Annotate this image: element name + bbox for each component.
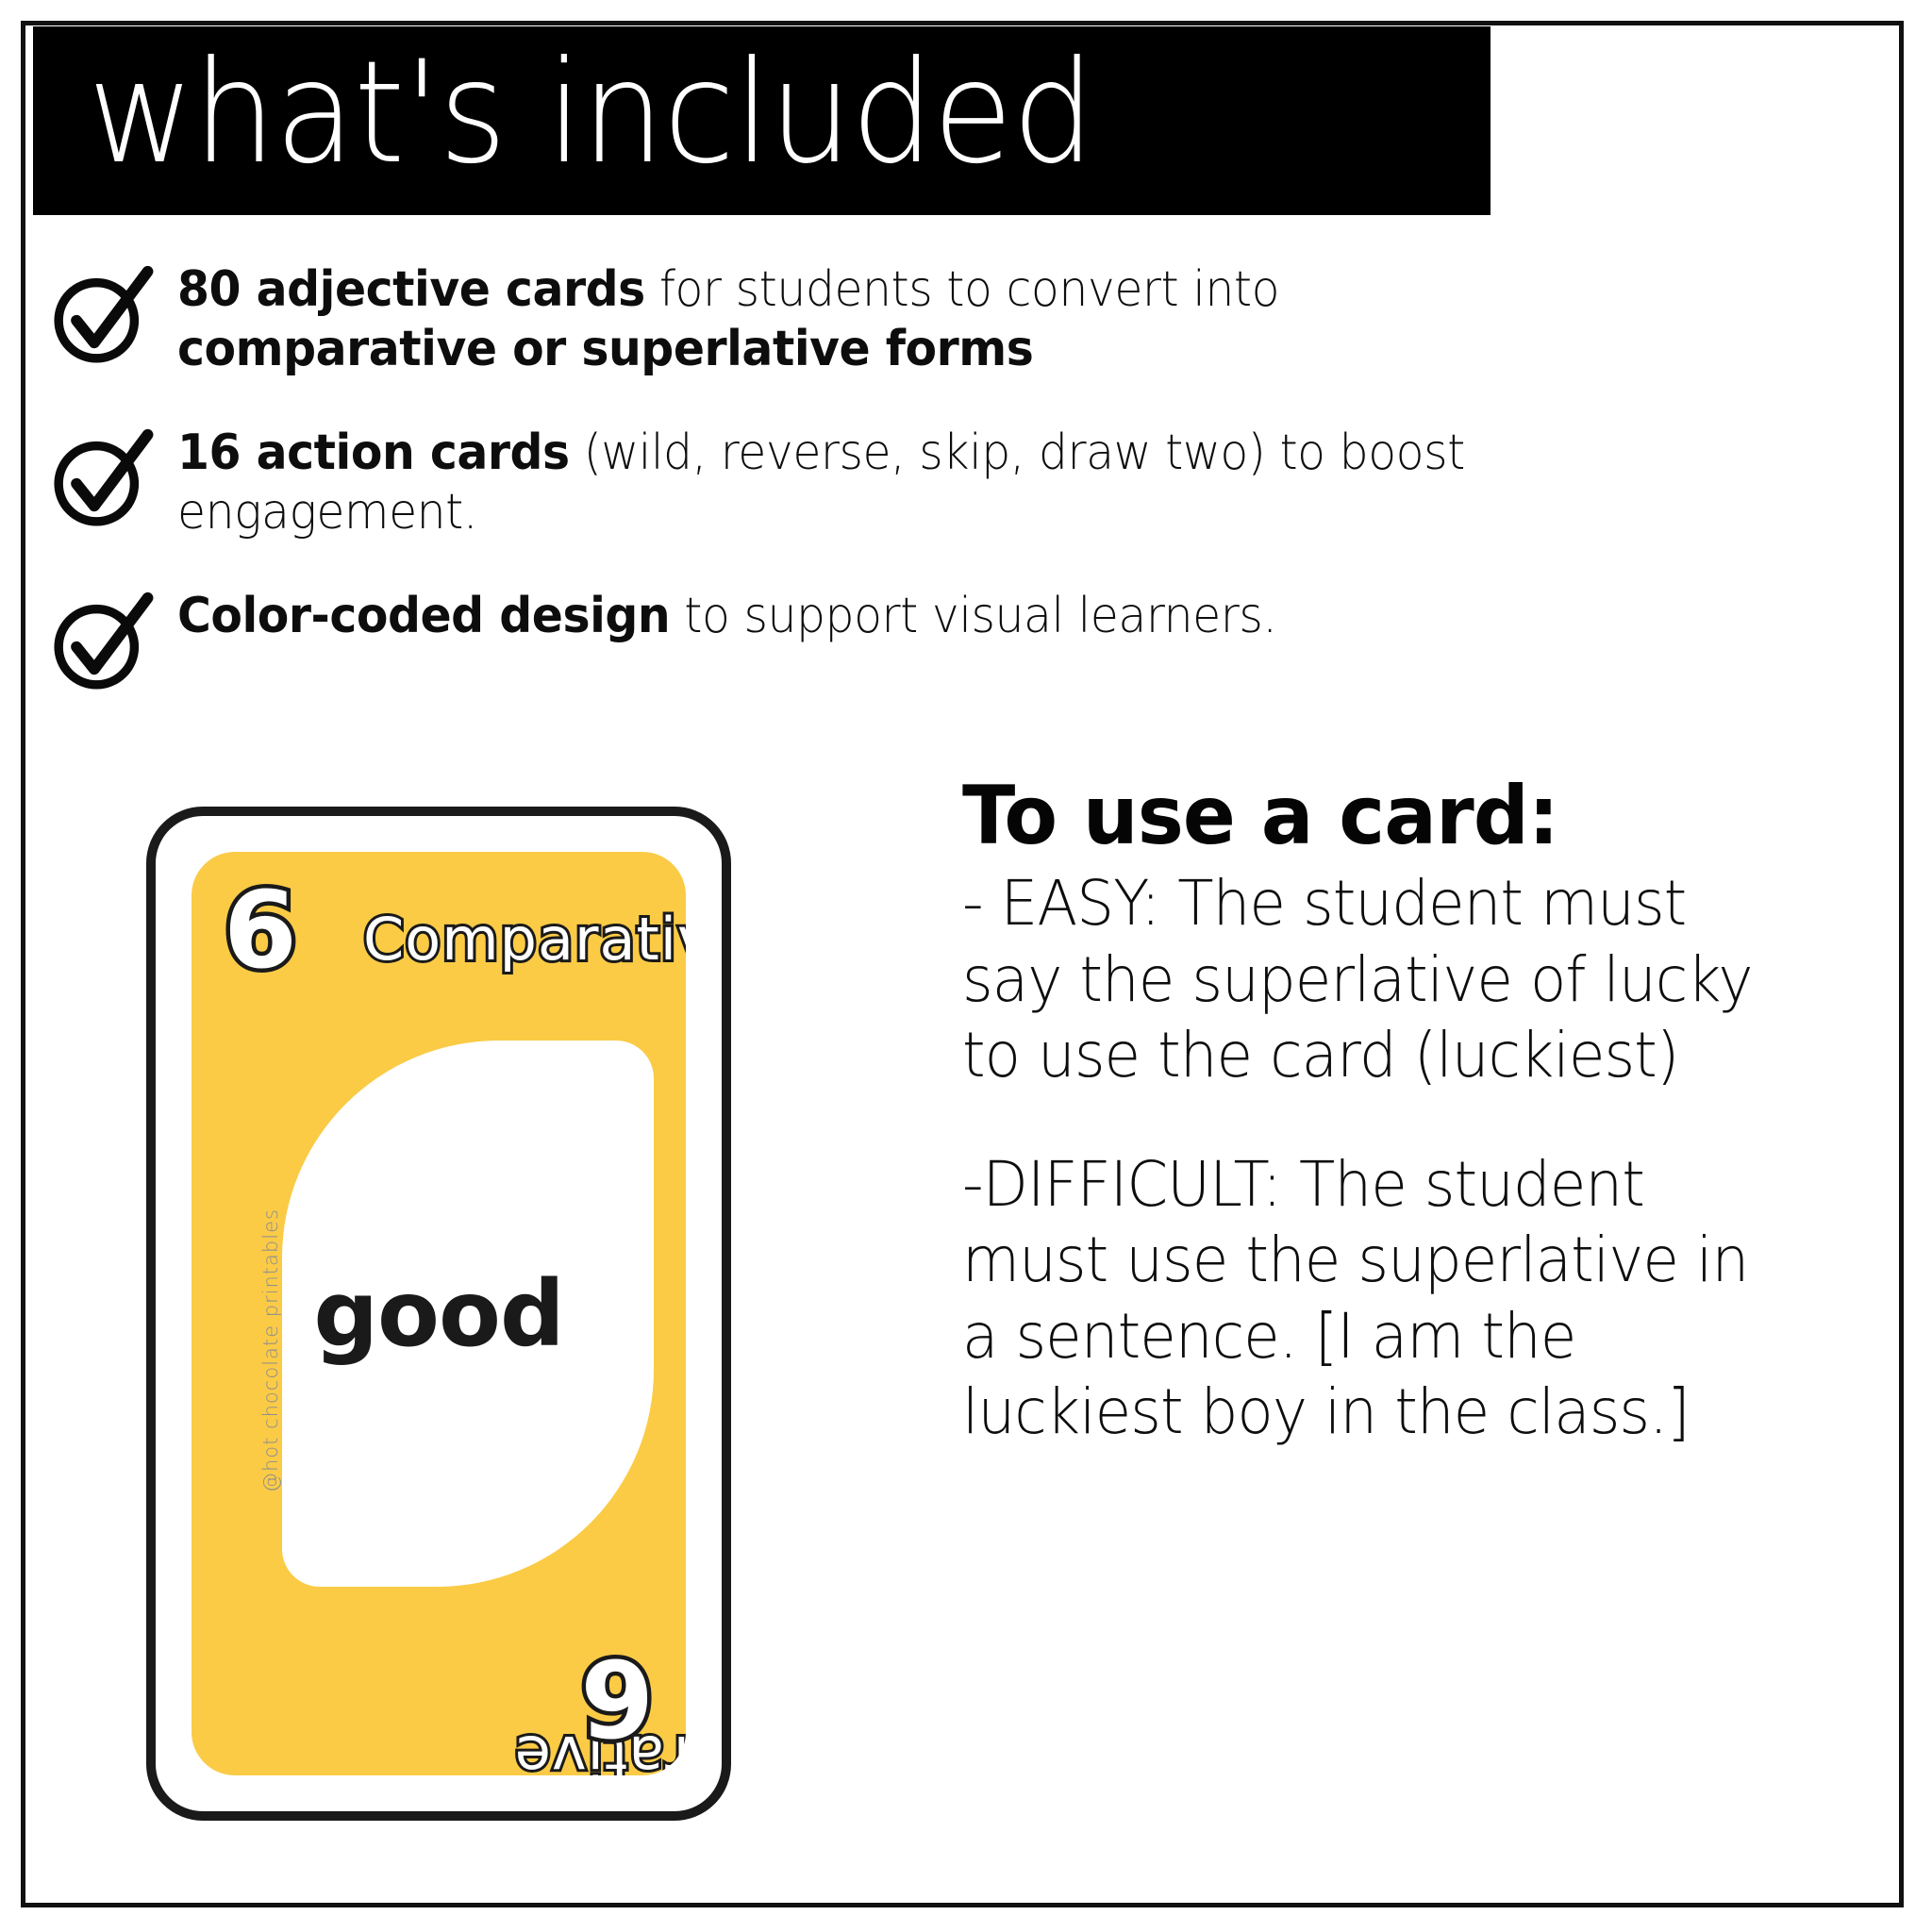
list-item-bold-lead: 80 adjective cards [177,261,645,318]
check-circle-icon [45,424,177,537]
card-number-bottom-right: 6 [580,1643,654,1749]
page-title: what's included [88,46,1093,181]
list-item-bold-lead: 16 action cards [177,425,570,481]
list-item-text: 16 action cards (wild, reverse, skip, dr… [177,420,1578,543]
list-item-text: Color-coded design to support visual lea… [177,583,1578,646]
list-item: 80 adjective cards for students to conve… [45,257,1668,380]
card-number-top-left: 6 [224,878,297,984]
page-root: what's included 80 adjective cards for s… [0,0,1932,1932]
card-label-top: Comparative [363,905,686,974]
list-item-bold-tail: comparative or superlative forms [177,321,1033,377]
usage-paragraph-easy: - EASY: The student must say the superla… [962,866,1796,1094]
list-item: 16 action cards (wild, reverse, skip, dr… [45,420,1668,543]
example-card: 6 Comparative good Comparative 6 @hot ch… [146,807,731,1821]
watermark-text: @hot chocolate printables [259,1208,282,1492]
header-banner: what's included [33,26,1491,215]
usage-section: To use a card: - EASY: The student must … [962,774,1840,1504]
list-item-bold-lead: Color-coded design [177,588,670,644]
list-item: Color-coded design to support visual lea… [45,583,1668,700]
usage-title: To use a card: [962,774,1805,858]
list-item-text: 80 adjective cards for students to conve… [177,257,1578,380]
card-face: 6 Comparative good Comparative 6 @hot ch… [192,852,686,1775]
check-circle-icon [45,587,177,700]
check-circle-icon [45,260,177,374]
list-item-rest: to support visual learners. [670,588,1276,644]
usage-paragraph-difficult: -DIFFICULT: The student must use the sup… [962,1147,1796,1451]
list-item-rest: for students to convert into [645,261,1279,318]
included-list: 80 adjective cards for students to conve… [45,257,1668,740]
